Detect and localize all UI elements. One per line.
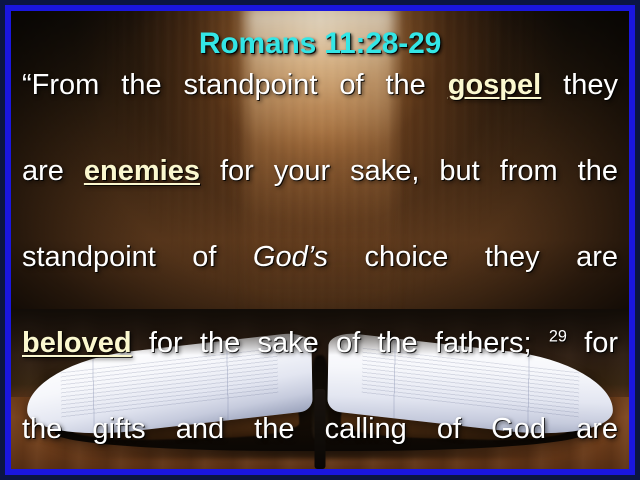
verse-text-run: for the sake of the fathers; [132, 327, 549, 359]
verse-text-run: they [541, 69, 618, 101]
text-layer: Romans 11:28-29 “From the standpoint of … [11, 11, 629, 469]
verse-text-run: for [567, 327, 618, 359]
line-2: are enemies for your sake, but from the [22, 150, 618, 236]
verse-body-text: “From the standpoint of the gospel theya… [22, 64, 618, 469]
line-1: “From the standpoint of the gospel they [22, 64, 618, 150]
emphasized-word: gospel [448, 69, 541, 101]
verse-text-run: choice they are [328, 241, 618, 273]
verse-text-run: the gifts and the calling of God are [22, 413, 618, 445]
line-5: the gifts and the calling of God are [22, 408, 618, 469]
verse-number-superscript: 29 [549, 327, 567, 345]
emphasized-word: enemies [84, 155, 200, 187]
emphasized-word: beloved [22, 327, 132, 359]
line-3: standpoint of God’s choice they are [22, 236, 618, 322]
verse-text-run: standpoint of [22, 241, 253, 273]
verse-text-run: for your sake, but from the [200, 155, 618, 187]
verse-text-run: “From the standpoint of the [22, 69, 448, 101]
verse-text-run: are [22, 155, 84, 187]
italic-word: God’s [253, 241, 328, 273]
line-4: beloved for the sake of the fathers; 29 … [22, 322, 618, 408]
verse-reference-title: Romans 11:28-29 [11, 27, 629, 61]
presentation-slide: Romans 11:28-29 “From the standpoint of … [0, 0, 640, 480]
slide-canvas: Romans 11:28-29 “From the standpoint of … [11, 11, 629, 469]
